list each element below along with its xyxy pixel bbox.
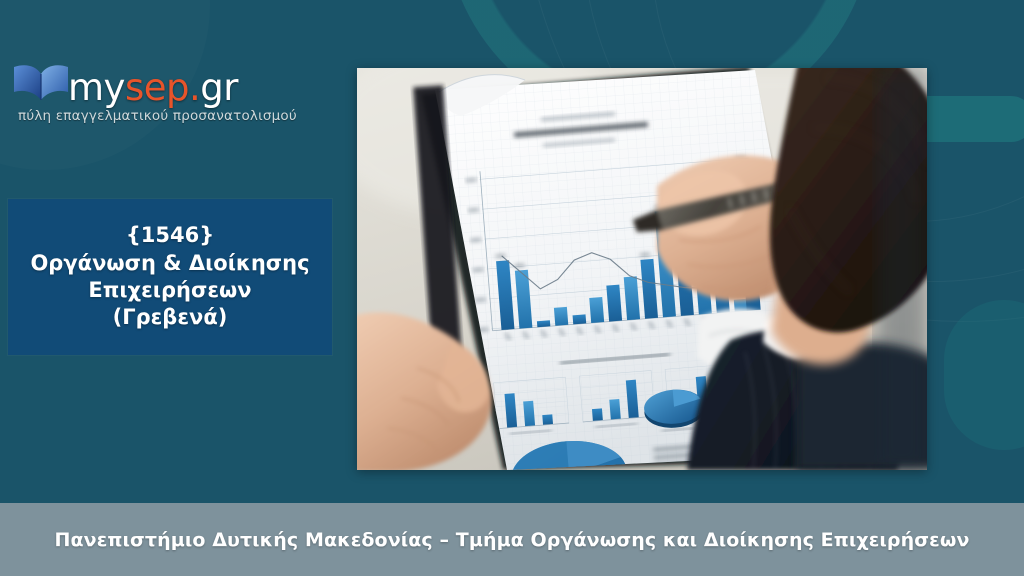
- logo-word-container: mysep.gr: [68, 69, 238, 106]
- businessman-reviewing-charts-photo: [357, 68, 927, 470]
- course-title-card: {1546} Οργάνωση & Διοίκησης Επιχειρήσεων…: [8, 199, 332, 355]
- slide-canvas: mysep.gr πύλη επαγγελματικού προσανατολι…: [0, 0, 1024, 576]
- footer-banner: Πανεπιστήμιο Δυτικής Μακεδονίας – Τμήμα …: [0, 503, 1024, 576]
- course-name-line-1: Οργάνωση & Διοίκησης: [30, 250, 309, 277]
- course-code: {1546}: [30, 222, 309, 249]
- logo-word-dot: .: [189, 66, 200, 109]
- course-title-text: {1546} Οργάνωση & Διοίκησης Επιχειρήσεων…: [20, 222, 319, 331]
- logo-word-my: my: [68, 66, 125, 109]
- course-city: (Γρεβενά): [30, 304, 309, 331]
- footer-banner-text: Πανεπιστήμιο Δυτικής Μακεδονίας – Τμήμα …: [55, 529, 970, 551]
- mysep-logo[interactable]: mysep.gr πύλη επαγγελματικού προσανατολι…: [12, 58, 262, 124]
- course-name-line-2: Επιχειρήσεων: [30, 277, 309, 304]
- logo-word-gr: gr: [200, 66, 238, 109]
- logo-word-sep: sep: [125, 66, 189, 109]
- logo-wordmark-row: mysep.gr: [12, 58, 262, 106]
- logo-tagline: πύλη επαγγελματικού προσανατολισμού: [18, 108, 262, 124]
- open-book-icon: [12, 62, 70, 104]
